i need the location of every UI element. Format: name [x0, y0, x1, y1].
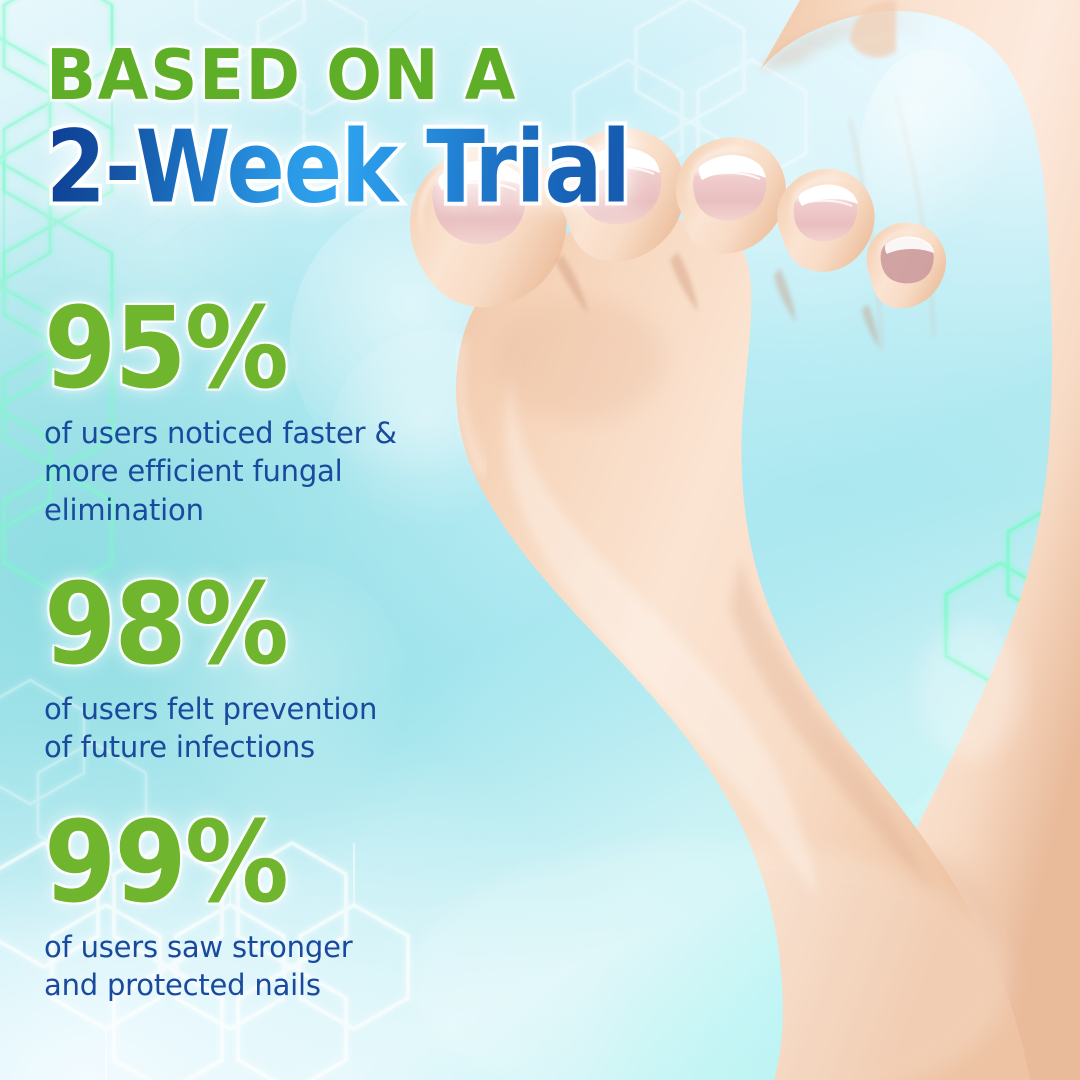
- headline-title-wrap: 2-Week Trial 2-Week Trial: [46, 118, 630, 206]
- stat-description-2: of users felt prevention of future infec…: [44, 690, 377, 767]
- headline-title: 2-Week Trial: [46, 118, 630, 220]
- stat-block-1: 95% of users noticed faster & more effic…: [44, 292, 397, 529]
- promo-poster: BASED ON A 2-Week Trial 2-Week Trial 95%…: [0, 0, 1080, 1080]
- poster-content: BASED ON A 2-Week Trial 2-Week Trial 95%…: [0, 0, 1080, 1080]
- stat-block-3: 99% of users saw stronger and protected …: [44, 806, 352, 1005]
- stat-block-2: 98% of users felt prevention of future i…: [44, 568, 377, 767]
- headline-block: BASED ON A 2-Week Trial 2-Week Trial: [46, 42, 630, 205]
- stat-description-1: of users noticed faster & more efficient…: [44, 414, 397, 529]
- stat-description-3: of users saw stronger and protected nail…: [44, 928, 352, 1005]
- stat-value-3: 99%: [44, 806, 352, 918]
- headline-kicker: BASED ON A: [46, 42, 665, 109]
- stat-value-1: 95%: [44, 292, 397, 404]
- stat-value-2: 98%: [44, 568, 377, 680]
